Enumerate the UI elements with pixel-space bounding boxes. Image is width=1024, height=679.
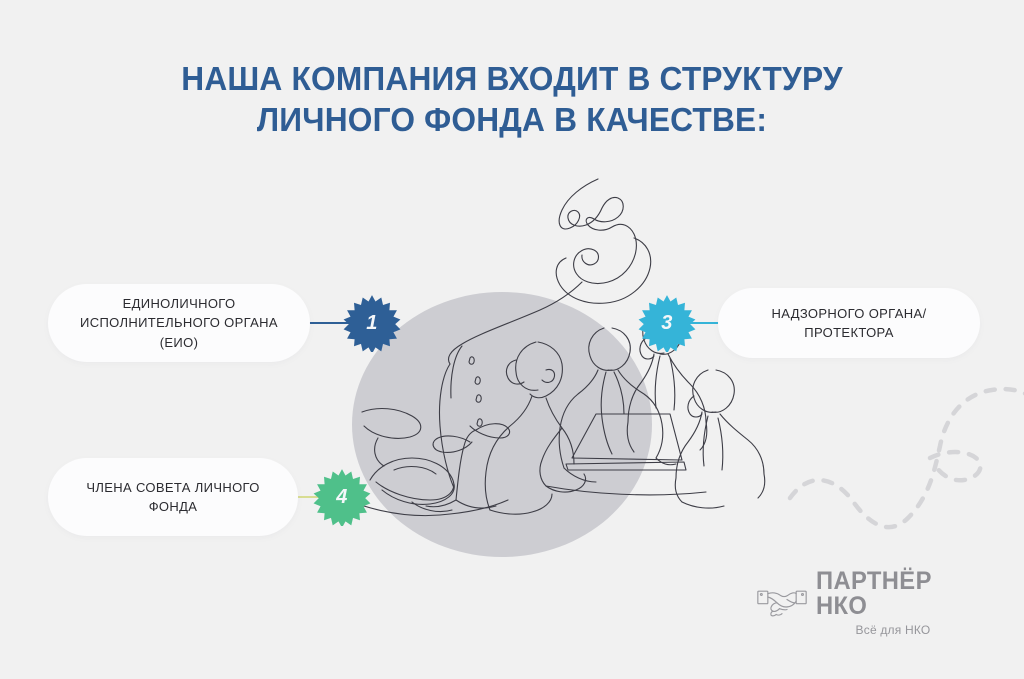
item-label-council-member: ЧЛЕНА СОВЕТА ЛИЧНОГО ФОНДА: [86, 478, 259, 517]
brand-logo: ПАРТНЁР НКО Всё для НКО: [757, 578, 967, 626]
item-label-supervisory-body: НАДЗОРНОГО ОРГАНА/ ПРОТЕКТОРА: [772, 304, 927, 343]
item-card-supervisory-body[interactable]: НАДЗОРНОГО ОРГАНА/ ПРОТЕКТОРА: [718, 288, 980, 358]
brand-logo-text: ПАРТНЁР НКО Всё для НКО: [816, 569, 970, 636]
page-title: НАША КОМПАНИЯ ВХОДИТ В СТРУКТУРУ ЛИЧНОГО…: [20, 58, 1003, 141]
dashed-route-decoration: [780, 350, 1024, 550]
brand-name: ПАРТНЁР НКО: [816, 569, 962, 619]
step-badge-4[interactable]: 4: [313, 468, 371, 526]
item-card-council-member[interactable]: ЧЛЕНА СОВЕТА ЛИЧНОГО ФОНДА: [48, 458, 298, 536]
slide-canvas: НАША КОМПАНИЯ ВХОДИТ В СТРУКТУРУ ЛИЧНОГО…: [0, 0, 1024, 679]
step-badge-1[interactable]: 1: [343, 294, 401, 352]
item-card-eio[interactable]: ЕДИНОЛИЧНОГО ИСПОЛНИТЕЛЬНОГО ОРГАНА (ЕИО…: [48, 284, 310, 362]
item-label-eio: ЕДИНОЛИЧНОГО ИСПОЛНИТЕЛЬНОГО ОРГАНА (ЕИО…: [80, 294, 278, 353]
step-number-1: 1: [366, 313, 378, 333]
brand-tagline: Всё для НКО: [816, 624, 970, 636]
handshake-icon: [757, 586, 807, 618]
step-number-3: 3: [661, 313, 673, 333]
illustration-line-art: [350, 170, 770, 550]
step-number-4: 4: [336, 487, 348, 507]
step-badge-3[interactable]: 3: [638, 294, 696, 352]
